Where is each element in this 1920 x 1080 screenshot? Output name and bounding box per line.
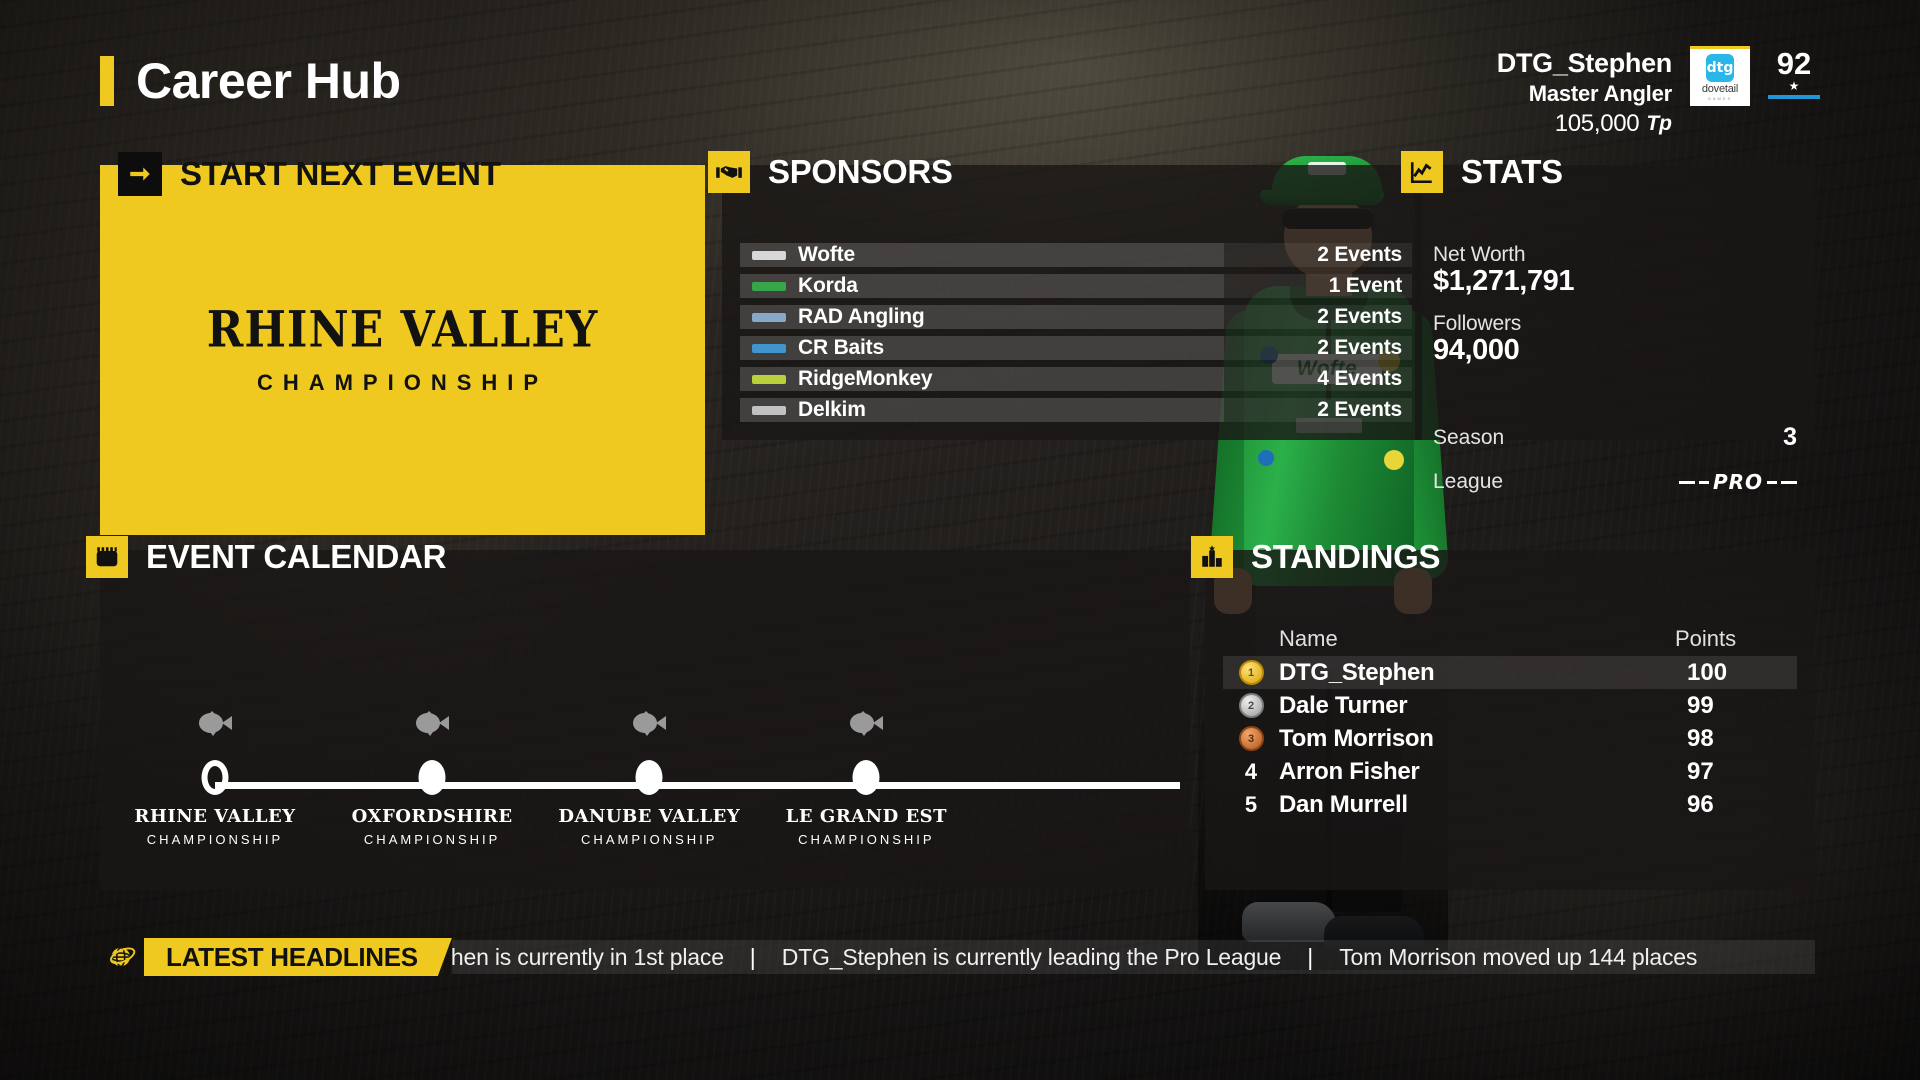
next-event-name: RHINE VALLEY <box>100 302 705 359</box>
season-row: Season 3 <box>1433 423 1797 452</box>
standings-title: STANDINGS <box>1251 538 1440 576</box>
arrow-right-icon <box>118 152 162 196</box>
level-progress-bar <box>1768 95 1820 99</box>
standings-player-points: 100 <box>1687 659 1797 687</box>
followers-value: 94,000 <box>1433 334 1797 367</box>
standings-player-name: DTG_Stephen <box>1279 659 1687 687</box>
ridgemonkey-logo <box>740 375 798 384</box>
wofte-logo <box>740 251 798 260</box>
timeline-event-subtitle: CHAMPIONSHIP <box>558 832 740 847</box>
standings-row[interactable]: 4Arron Fisher97 <box>1223 755 1797 788</box>
delkim-logo <box>740 406 798 415</box>
fish-icon <box>627 710 671 741</box>
headline-item: Tom Morrison moved up 144 places <box>1339 944 1697 971</box>
season-label: Season <box>1433 426 1504 450</box>
event-calendar-panel: EVENT CALENDAR RHINE VALLEYCHAMPIONSHIPO… <box>100 550 1190 890</box>
net-worth-label: Net Worth <box>1433 243 1797 267</box>
standings-row[interactable]: 1DTG_Stephen100 <box>1223 656 1797 689</box>
timeline-node[interactable] <box>202 760 229 795</box>
net-worth-value: $1,271,791 <box>1433 265 1797 298</box>
page-title: Career Hub <box>136 52 401 110</box>
sponsor-events-count: 1 Event <box>1329 274 1412 298</box>
rank-number: 5 <box>1223 792 1279 818</box>
player-level-number: 92 <box>1777 48 1811 79</box>
season-value: 3 <box>1783 423 1797 452</box>
standings-player-name: Tom Morrison <box>1279 725 1687 753</box>
sponsors-header: SPONSORS <box>708 151 953 193</box>
event-calendar-title: EVENT CALENDAR <box>146 538 446 576</box>
headline-item: DTG_Stephen is currently in 1st place <box>452 944 724 971</box>
player-level-badge: 92 ★ <box>1768 46 1820 99</box>
column-header-name: Name <box>1279 626 1675 652</box>
stats-panel: STATS Net Worth $1,271,791 Followers 94,… <box>1415 165 1815 440</box>
standings-player-name: Arron Fisher <box>1279 758 1687 786</box>
timeline-event-name: OXFORDSHIRE <box>352 806 513 827</box>
star-icon: ★ <box>1789 80 1800 92</box>
ticker-separator: | <box>724 944 782 971</box>
sponsors-list: Wofte2 EventsKorda1 EventRAD Angling2 Ev… <box>740 243 1412 429</box>
podium-icon <box>1191 536 1233 578</box>
rad-angling-logo <box>740 313 798 322</box>
calendar-icon <box>86 536 128 578</box>
ticker-separator: | <box>1281 944 1339 971</box>
sponsor-row[interactable]: Wofte2 Events <box>740 243 1412 267</box>
page-header: Career Hub <box>100 52 401 110</box>
tp-currency-icon: Tp <box>1646 112 1672 136</box>
timeline-event-subtitle: CHAMPIONSHIP <box>134 832 295 847</box>
cr-baits-logo <box>740 344 798 353</box>
player-profile[interactable]: DTG_Stephen Master Angler 105,000 Tp dtg… <box>1497 46 1820 138</box>
pro-league-badge: PRO <box>1679 470 1797 494</box>
timeline-event-caption: RHINE VALLEYCHAMPIONSHIP <box>134 806 295 847</box>
standings-player-points: 98 <box>1687 725 1797 753</box>
column-header-points: Points <box>1675 626 1785 652</box>
sponsor-name: Wofte <box>798 243 1317 267</box>
start-next-event-header: START NEXT EVENT <box>118 152 501 196</box>
dovetail-wordmark: dovetail <box>1702 83 1738 95</box>
timeline-event-caption: OXFORDSHIRECHAMPIONSHIP <box>352 806 513 847</box>
standings-player-name: Dan Murrell <box>1279 791 1687 819</box>
dovetail-subtitle: GAMES <box>1708 96 1732 101</box>
player-name: DTG_Stephen <box>1497 48 1672 79</box>
standings-player-points: 97 <box>1687 758 1797 786</box>
sponsor-events-count: 4 Events <box>1317 367 1412 391</box>
dovetail-games-logo: dtg dovetail GAMES <box>1690 46 1750 106</box>
player-points-value: 105,000 <box>1555 110 1640 138</box>
korda-logo <box>740 282 798 291</box>
sponsor-events-count: 2 Events <box>1317 336 1412 360</box>
sponsors-title: SPONSORS <box>768 153 953 191</box>
standings-player-points: 96 <box>1687 791 1797 819</box>
event-calendar-header: EVENT CALENDAR <box>86 536 446 578</box>
start-next-event-button[interactable]: START NEXT EVENT RHINE VALLEY CHAMPIONSH… <box>100 165 705 535</box>
standings-row[interactable]: 2Dale Turner99 <box>1223 689 1797 722</box>
standings-player-points: 99 <box>1687 692 1797 720</box>
sponsor-events-count: 2 Events <box>1317 305 1412 329</box>
standings-table: Name Points 1DTG_Stephen1002Dale Turner9… <box>1223 626 1797 821</box>
timeline-event-name: LE GRAND EST <box>786 806 947 827</box>
handshake-icon <box>708 151 750 193</box>
next-event-subtitle: CHAMPIONSHIP <box>100 370 705 396</box>
start-next-event-label: START NEXT EVENT <box>180 155 501 193</box>
sponsor-name: RidgeMonkey <box>798 367 1317 391</box>
sponsor-row[interactable]: CR Baits2 Events <box>740 336 1412 360</box>
league-label: League <box>1433 470 1503 494</box>
timeline-node[interactable] <box>419 760 446 795</box>
headline-item: DTG_Stephen is currently leading the Pro… <box>782 944 1281 971</box>
league-row: League PRO <box>1433 470 1797 494</box>
medal-bronze-icon: 3 <box>1223 726 1279 751</box>
sponsor-name: RAD Angling <box>798 305 1317 329</box>
standings-row[interactable]: 5Dan Murrell96 <box>1223 788 1797 821</box>
sponsor-row[interactable]: RAD Angling2 Events <box>740 305 1412 329</box>
event-timeline: RHINE VALLEYCHAMPIONSHIPOXFORDSHIRECHAMP… <box>140 710 1180 860</box>
line-chart-icon <box>1401 151 1443 193</box>
timeline-event-name: DANUBE VALLEY <box>558 806 740 827</box>
sponsor-row[interactable]: RidgeMonkey4 Events <box>740 367 1412 391</box>
headlines-ticker-track: DTG_Stephen is currently in 1st place|DT… <box>452 940 1815 974</box>
globe-icon <box>100 938 144 976</box>
player-rank-title: Master Angler <box>1497 81 1672 107</box>
fish-icon <box>844 710 888 741</box>
stats-header: STATS <box>1401 151 1563 193</box>
standings-header: STANDINGS <box>1191 536 1440 578</box>
sponsor-name: Delkim <box>798 398 1317 422</box>
timeline-event-subtitle: CHAMPIONSHIP <box>352 832 513 847</box>
timeline-event-subtitle: CHAMPIONSHIP <box>786 832 947 847</box>
sponsor-name: CR Baits <box>798 336 1317 360</box>
player-points-row: 105,000 Tp <box>1497 110 1672 138</box>
timeline-node[interactable] <box>636 760 663 795</box>
timeline-event-name: RHINE VALLEY <box>134 806 295 827</box>
standings-column-headers: Name Points <box>1223 626 1797 652</box>
standings-player-name: Dale Turner <box>1279 692 1687 720</box>
medal-silver-icon: 2 <box>1223 693 1279 718</box>
sponsor-row[interactable]: Korda1 Event <box>740 274 1412 298</box>
headlines-ticker-items: DTG_Stephen is currently in 1st place|DT… <box>452 940 1697 974</box>
fish-icon <box>410 710 454 741</box>
followers-label: Followers <box>1433 312 1797 336</box>
player-info-text: DTG_Stephen Master Angler 105,000 Tp <box>1497 46 1672 138</box>
sponsor-events-count: 2 Events <box>1317 243 1412 267</box>
stats-body: Net Worth $1,271,791 Followers 94,000 Se… <box>1433 243 1797 494</box>
dovetail-mark-icon: dtg <box>1706 54 1734 82</box>
timeline-event-caption: DANUBE VALLEYCHAMPIONSHIP <box>558 806 740 847</box>
title-accent-bar <box>100 56 114 106</box>
sponsors-panel: SPONSORS Wofte2 EventsKorda1 EventRAD An… <box>722 165 1422 440</box>
latest-headlines-ticker: LATEST HEADLINES DTG_Stephen is currentl… <box>100 938 1815 976</box>
standings-row[interactable]: 3Tom Morrison98 <box>1223 722 1797 755</box>
timeline-node[interactable] <box>853 760 880 795</box>
timeline-track <box>215 782 1180 789</box>
standings-panel: STANDINGS Name Points 1DTG_Stephen1002Da… <box>1205 550 1815 890</box>
medal-gold-icon: 1 <box>1223 660 1279 685</box>
sponsor-row[interactable]: Delkim2 Events <box>740 398 1412 422</box>
stats-title: STATS <box>1461 153 1563 191</box>
headlines-label: LATEST HEADLINES <box>144 938 452 976</box>
sponsor-events-count: 2 Events <box>1317 398 1412 422</box>
sponsor-name: Korda <box>798 274 1329 298</box>
fish-icon <box>193 710 237 741</box>
timeline-event-caption: LE GRAND ESTCHAMPIONSHIP <box>786 806 947 847</box>
rank-number: 4 <box>1223 759 1279 785</box>
next-event-logo: RHINE VALLEY CHAMPIONSHIP <box>100 305 705 396</box>
league-value: PRO <box>1713 470 1763 494</box>
